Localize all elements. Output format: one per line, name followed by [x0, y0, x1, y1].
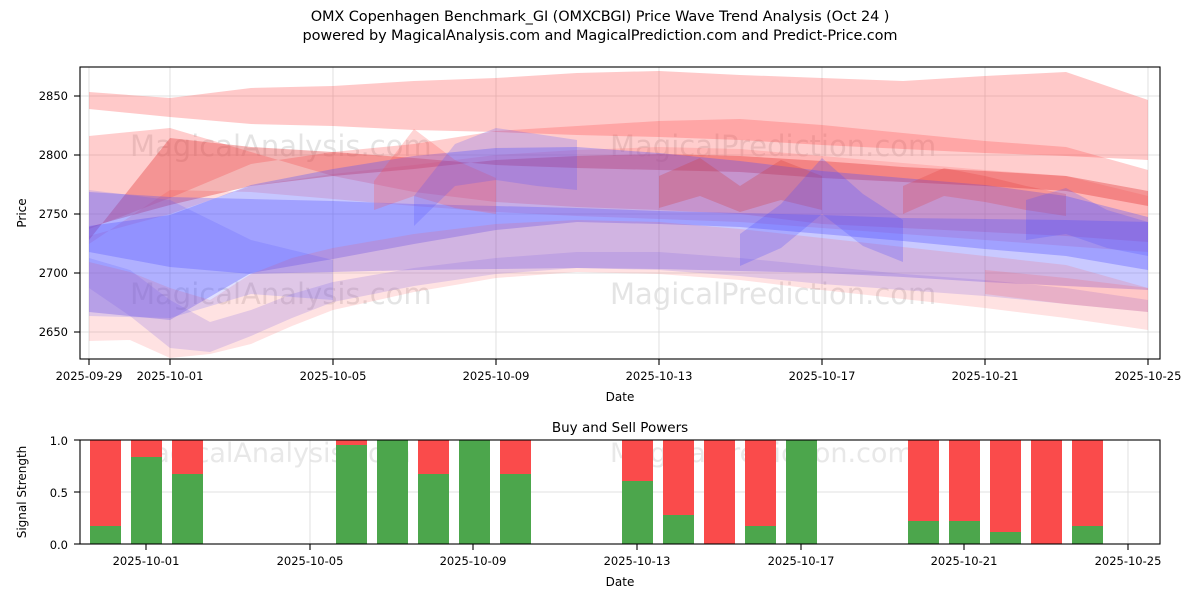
bar-sell: [1072, 440, 1103, 526]
price-xtick-6: 2025-10-21: [952, 369, 1019, 383]
price-ytick-2850: 2850: [39, 89, 68, 103]
bar-buy: [418, 474, 449, 544]
bar-group: [949, 440, 980, 544]
bar-buy: [745, 526, 776, 544]
bar-sell: [704, 440, 735, 544]
price-xtick-2: 2025-10-05: [300, 369, 367, 383]
bar-group: [1031, 440, 1062, 544]
bar-sell: [663, 440, 694, 515]
bar-group: [663, 440, 694, 544]
buy-sell-title: Buy and Sell Powers: [552, 420, 688, 436]
bar-group: [418, 440, 449, 544]
bar-sell: [418, 440, 449, 474]
bar-buy: [622, 481, 653, 544]
price-y-ticks: 2850 2800 2750 2700 2650: [39, 89, 80, 339]
bar-buy: [908, 521, 939, 544]
bar-buy: [786, 440, 817, 544]
price-xaxis-label: Date: [606, 390, 635, 404]
bar-group: [131, 440, 162, 544]
signal-xtick-0: 2025-10-01: [113, 554, 180, 568]
bar-group: [336, 440, 367, 544]
signal-ytick-1: 1.0: [50, 434, 68, 448]
signal-ytick-0: 0.0: [50, 538, 68, 552]
chart-page: OMX Copenhagen Benchmark_GI (OMXCBGI) Pr…: [0, 0, 1200, 600]
bar-buy: [949, 521, 980, 544]
signal-yaxis-label: Signal Strength: [15, 446, 29, 539]
bar-sell: [172, 440, 203, 474]
signal-xtick-2: 2025-10-09: [440, 554, 507, 568]
price-x-ticks: 2025-09-29 2025-10-01 2025-10-05 2025-10…: [56, 359, 1182, 383]
bar-sell: [990, 440, 1021, 532]
bar-group: [990, 440, 1021, 544]
bar-buy: [336, 445, 367, 544]
bar-sell: [949, 440, 980, 521]
buy-sell-x-ticks: 2025-10-01 2025-10-05 2025-10-09 2025-10…: [113, 544, 1162, 568]
bar-group: [745, 440, 776, 544]
signal-xtick-3: 2025-10-13: [604, 554, 671, 568]
bar-group: [500, 440, 531, 544]
price-ytick-2650: 2650: [39, 325, 68, 339]
price-wave-chart: MagicalAnalysis.com MagicalPrediction.co…: [15, 67, 1181, 404]
bar-sell: [908, 440, 939, 521]
bar-group: [622, 440, 653, 544]
bar-group: [908, 440, 939, 544]
price-ytick-2800: 2800: [39, 148, 68, 162]
price-xtick-0: 2025-09-29: [56, 369, 123, 383]
bar-group: [1072, 440, 1103, 544]
bar-group: [459, 440, 490, 544]
signal-xtick-4: 2025-10-17: [768, 554, 835, 568]
bar-buy: [1072, 526, 1103, 544]
signal-xtick-1: 2025-10-05: [277, 554, 344, 568]
bar-sell: [336, 440, 367, 445]
price-xtick-1: 2025-10-01: [137, 369, 204, 383]
bar-group: [172, 440, 203, 544]
bar-buy: [990, 532, 1021, 544]
signal-xtick-6: 2025-10-25: [1095, 554, 1162, 568]
bar-group: [704, 440, 735, 544]
bar-buy: [663, 515, 694, 544]
bar-group: [786, 440, 817, 544]
bar-sell: [90, 440, 121, 526]
price-xtick-7: 2025-10-25: [1115, 369, 1182, 383]
bar-buy: [131, 457, 162, 544]
buy-sell-y-ticks: 1.0 0.5 0.0: [50, 434, 80, 552]
bar-sell: [131, 440, 162, 457]
bar-buy: [377, 440, 408, 544]
signal-ytick-05: 0.5: [50, 486, 68, 500]
price-yaxis-label: Price: [15, 198, 29, 227]
bar-sell: [1031, 440, 1062, 544]
price-xtick-5: 2025-10-17: [789, 369, 856, 383]
signal-xaxis-label: Date: [606, 575, 635, 589]
bar-group: [377, 440, 408, 544]
bar-buy: [90, 526, 121, 544]
price-ytick-2750: 2750: [39, 207, 68, 221]
bar-sell: [745, 440, 776, 526]
price-ytick-2700: 2700: [39, 266, 68, 280]
buy-sell-powers-chart: Buy and Sell Powers MagicalAnalysis.com …: [15, 420, 1161, 589]
signal-xtick-5: 2025-10-21: [931, 554, 998, 568]
price-xtick-4: 2025-10-13: [626, 369, 693, 383]
figure-canvas: MagicalAnalysis.com MagicalPrediction.co…: [0, 0, 1200, 600]
bar-buy: [500, 474, 531, 544]
bar-sell: [622, 440, 653, 481]
bar-group: [90, 440, 121, 544]
bar-buy: [172, 474, 203, 544]
bar-sell: [500, 440, 531, 474]
price-xtick-3: 2025-10-09: [463, 369, 530, 383]
bar-buy: [459, 440, 490, 544]
